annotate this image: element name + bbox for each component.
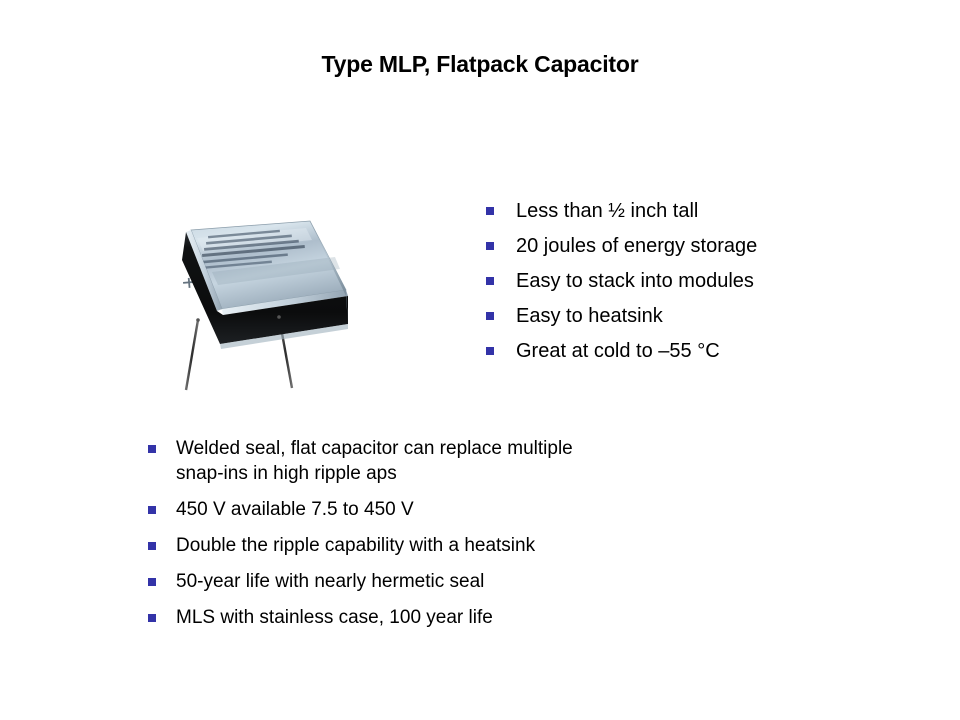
list-item: 50-year life with nearly hermetic seal — [148, 569, 848, 594]
list-item-label: 20 joules of energy storage — [516, 233, 757, 259]
list-item-label: Double the ripple capability with a heat… — [176, 533, 535, 558]
list-item: 20 joules of energy storage — [486, 233, 906, 259]
bullet-square-icon — [486, 347, 494, 355]
details-bullet-list: Welded seal, flat capacitor can replace … — [148, 436, 848, 641]
bullet-square-icon — [486, 242, 494, 250]
bullet-square-icon — [486, 312, 494, 320]
list-item-label: MLS with stainless case, 100 year life — [176, 605, 493, 630]
list-item: Welded seal, flat capacitor can replace … — [148, 436, 848, 486]
bullet-square-icon — [148, 542, 156, 550]
bullet-square-icon — [148, 506, 156, 514]
list-item: Easy to stack into modules — [486, 268, 906, 294]
list-item: Great at cold to –55 °C — [486, 338, 906, 364]
list-item-label: Great at cold to –55 °C — [516, 338, 720, 364]
list-item-label: 450 V available 7.5 to 450 V — [176, 497, 414, 522]
capacitor-illustration — [160, 212, 365, 397]
lead-exit-right — [277, 315, 281, 319]
list-item-label: Welded seal, flat capacitor can replace … — [176, 436, 573, 486]
list-item: MLS with stainless case, 100 year life — [148, 605, 848, 630]
slide-canvas: Type MLP, Flatpack Capacitor — [0, 0, 960, 720]
bullet-square-icon — [148, 445, 156, 453]
bullet-square-icon — [486, 277, 494, 285]
list-item: Double the ripple capability with a heat… — [148, 533, 848, 558]
bullet-square-icon — [486, 207, 494, 215]
list-item-label: Easy to stack into modules — [516, 268, 754, 294]
bullet-square-icon — [148, 614, 156, 622]
list-item-label: Less than ½ inch tall — [516, 198, 698, 224]
list-item: Less than ½ inch tall — [486, 198, 906, 224]
capacitor-photo — [160, 212, 365, 397]
list-item-label: Easy to heatsink — [516, 303, 663, 329]
features-bullet-list: Less than ½ inch tall 20 joules of energ… — [486, 198, 906, 373]
bullet-square-icon — [148, 578, 156, 586]
list-item: Easy to heatsink — [486, 303, 906, 329]
list-item-label: 50-year life with nearly hermetic seal — [176, 569, 484, 594]
lead-exit-left — [196, 318, 200, 322]
list-item: 450 V available 7.5 to 450 V — [148, 497, 848, 522]
slide-title: Type MLP, Flatpack Capacitor — [0, 50, 960, 78]
